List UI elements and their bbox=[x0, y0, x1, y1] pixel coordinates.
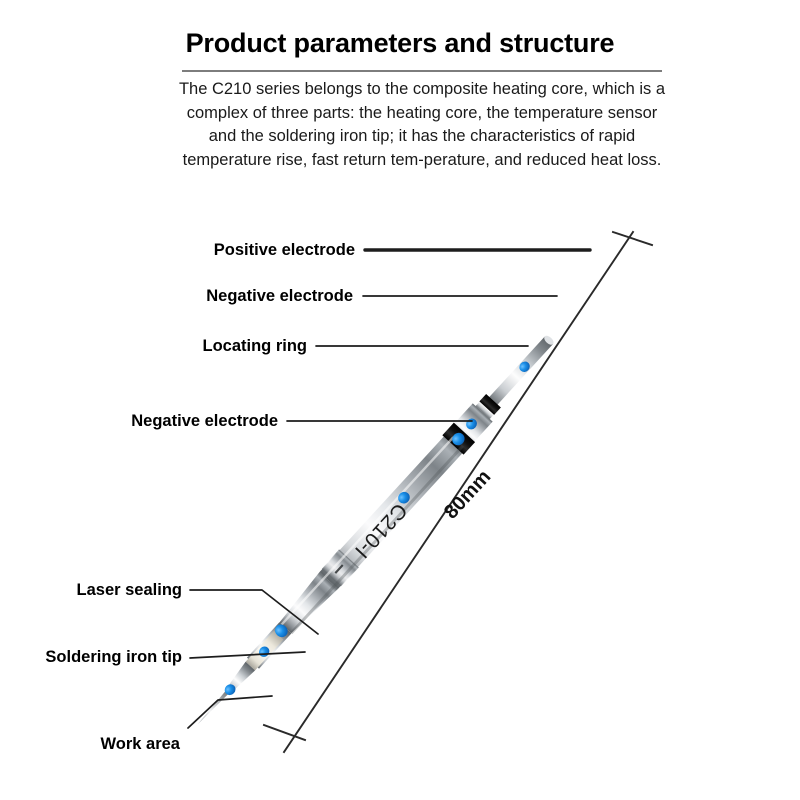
callout-label-work-area: Work area bbox=[0, 735, 180, 753]
callout-label-locating-ring: Locating ring bbox=[55, 337, 307, 355]
iron-assembly: C210-I bbox=[187, 328, 563, 734]
callout-label-positive-electrode: Positive electrode bbox=[55, 241, 355, 259]
callout-label-negative-electrode-upper: Negative electrode bbox=[55, 287, 353, 305]
needle-point bbox=[196, 690, 229, 725]
callout-label-soldering-iron-tip: Soldering iron tip bbox=[0, 648, 182, 666]
callout-label-negative-electrode-lower: Negative electrode bbox=[0, 412, 278, 430]
leader-work-area bbox=[188, 696, 272, 728]
product-diagram-page: Product parameters and structure The C21… bbox=[0, 0, 800, 800]
soldering-tip-illustration: C210-I bbox=[0, 0, 800, 800]
positive-electrode-shaft bbox=[488, 336, 553, 405]
product-figure: C210-I bbox=[0, 0, 800, 800]
callout-label-laser-sealing: Laser sealing bbox=[0, 581, 182, 599]
